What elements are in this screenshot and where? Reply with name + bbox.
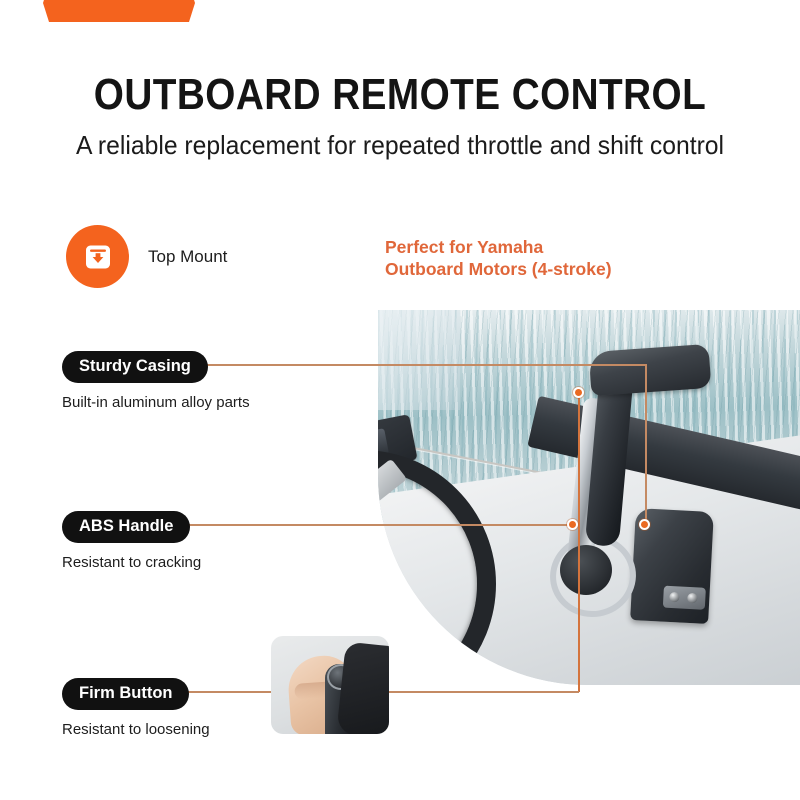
compatibility-note: Perfect for Yamaha Outboard Motors (4-st…: [385, 236, 612, 280]
control-lever-handle: [589, 344, 712, 396]
top-mount-badge: Top Mount: [66, 225, 227, 288]
base-fastener-plate: [663, 586, 706, 610]
callout-dot-handle: [567, 519, 578, 530]
callout-dot-casing: [639, 519, 650, 530]
feature-badge: Sturdy Casing: [62, 351, 208, 383]
hand-gripping-handle-photo: [271, 636, 389, 734]
callout-line-abs-handle: [184, 524, 576, 526]
windshield-glass: [378, 310, 460, 410]
callout-dot-top-lever: [573, 387, 584, 398]
feature-badge: ABS Handle: [62, 511, 190, 543]
feature-sturdy-casing: Sturdy Casing Built-in aluminum alloy pa…: [62, 351, 250, 411]
callout-line-sturdy-casing-drop: [645, 364, 647, 526]
infographic-canvas: OUTBOARD REMOTE CONTROL A reliable repla…: [0, 0, 800, 800]
lever-pivot-cap: [560, 545, 612, 595]
feature-description: Built-in aluminum alloy parts: [62, 394, 250, 411]
page-title: OUTBOARD REMOTE CONTROL: [48, 72, 752, 118]
box-down-arrow-icon: [66, 225, 129, 288]
feature-firm-button: Firm Button Resistant to loosening: [62, 678, 210, 738]
top-banner-tab: [43, 0, 195, 22]
feature-badge: Firm Button: [62, 678, 189, 710]
boat-console-photo: [378, 310, 800, 685]
page-subtitle: A reliable replacement for repeated thro…: [20, 130, 780, 160]
feature-description: Resistant to cracking: [62, 554, 201, 571]
callout-line-sturdy-casing: [196, 364, 646, 366]
feature-abs-handle: ABS Handle Resistant to cracking: [62, 511, 201, 571]
top-mount-label: Top Mount: [148, 247, 227, 267]
feature-description: Resistant to loosening: [62, 721, 210, 738]
sleeve-graphic: [336, 642, 389, 734]
callout-line-lever-stem: [578, 392, 580, 692]
